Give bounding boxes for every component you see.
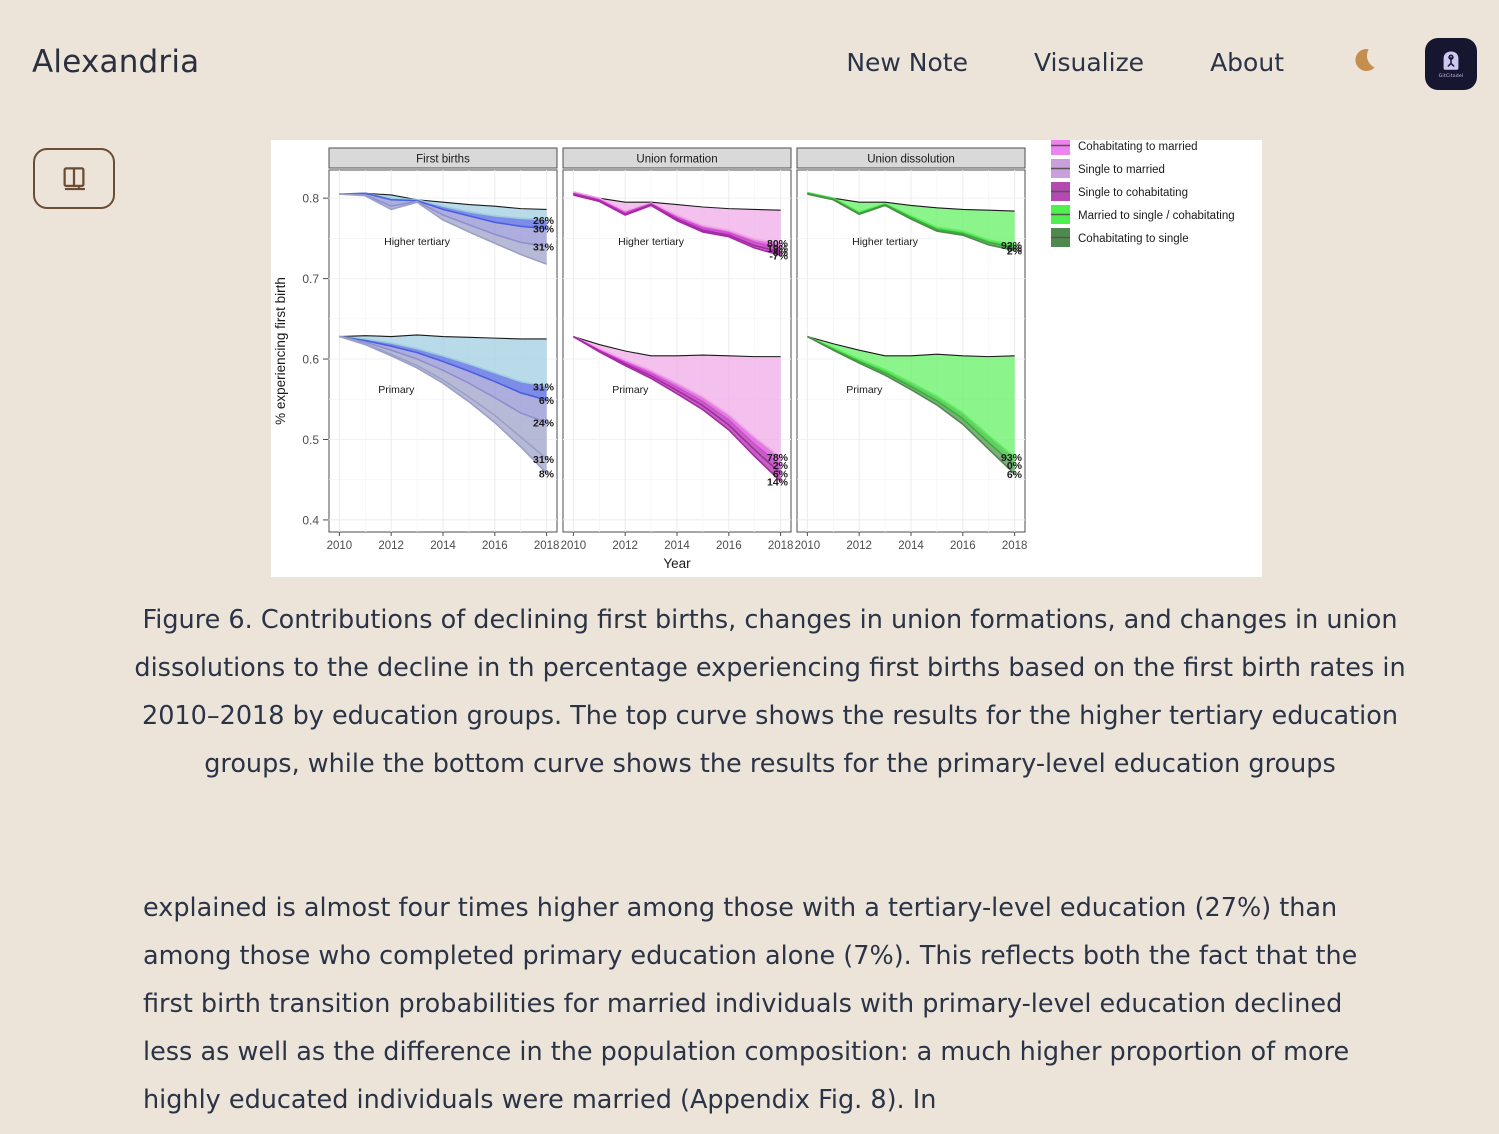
group-label: Primary [612, 384, 649, 396]
band-annotation: 30% [533, 224, 555, 236]
group-label: Higher tertiary [384, 236, 451, 248]
x-tick-label: 2016 [716, 540, 742, 552]
x-tick-label: 2018 [768, 540, 794, 552]
y-tick-label: 0.4 [302, 513, 319, 527]
x-tick-label: 2014 [898, 540, 924, 552]
logo-label: GitCitadel [1439, 74, 1464, 79]
body-paragraph: explained is almost four times higher am… [143, 884, 1391, 1124]
legend-swatch [1051, 140, 1070, 155]
band-annotation: 14% [767, 476, 789, 488]
panel-union-dissolution: Union dissolution20102012201420162018Hig… [795, 148, 1028, 552]
group-label: Higher tertiary [852, 236, 919, 248]
nav-item-new-note[interactable]: New Note [813, 48, 1001, 77]
band-annotation: 2% [1007, 245, 1023, 257]
facet-title: First births [416, 154, 470, 166]
band-annotation: 6% [1007, 469, 1023, 481]
panel-first-births: First births20102012201420162018Higher t… [327, 148, 560, 552]
band-annotation: 31% [533, 454, 555, 466]
panel-union-formation: Union formation20102012201420162018Highe… [561, 148, 794, 552]
nav-item-visualize[interactable]: Visualize [1001, 48, 1177, 77]
app-brand-title[interactable]: Alexandria [32, 44, 199, 80]
figure-caption: Figure 6. Contributions of declining fir… [110, 596, 1430, 788]
band-annotation: -7% [769, 250, 788, 262]
book-icon [59, 164, 89, 194]
band-annotation: 31% [533, 381, 555, 393]
legend-label: Cohabitating to married [1078, 141, 1198, 153]
facet-title: Union dissolution [867, 154, 955, 166]
figure-image-card[interactable]: % experiencing first birth0.40.50.60.70.… [271, 140, 1262, 577]
moon-icon[interactable] [1347, 42, 1387, 82]
x-tick-label: 2014 [664, 540, 690, 552]
band-annotation: 24% [533, 418, 555, 430]
x-tick-label: 2016 [950, 540, 976, 552]
legend-label: Married to single / cohabitating [1078, 210, 1235, 222]
facet-title: Union formation [636, 154, 717, 166]
group-label: Primary [846, 384, 883, 396]
x-tick-label: 2010 [561, 540, 587, 552]
legend-label: Single to married [1078, 164, 1165, 176]
group-label: Primary [378, 384, 415, 396]
x-tick-label: 2012 [612, 540, 638, 552]
x-tick-label: 2012 [846, 540, 872, 552]
y-tick-label: 0.8 [302, 192, 319, 206]
x-tick-label: 2018 [534, 540, 560, 552]
shield-icon [1439, 49, 1463, 73]
body-paragraph-next-partial: the calculations, we assume that only th… [143, 1122, 1391, 1134]
y-tick-label: 0.6 [302, 353, 319, 367]
gitcitadel-logo[interactable]: GitCitadel [1425, 38, 1477, 90]
band-annotation: 8% [539, 468, 555, 480]
band-annotation: 31% [533, 241, 555, 253]
main-navigation: New Note Visualize About [813, 42, 1387, 82]
x-tick-label: 2018 [1002, 540, 1028, 552]
y-axis-title: % experiencing first birth [273, 277, 288, 425]
legend-label: Cohabitating to single [1078, 233, 1189, 245]
x-tick-label: 2012 [378, 540, 404, 552]
nav-item-about[interactable]: About [1177, 48, 1317, 77]
y-tick-label: 0.7 [302, 272, 319, 286]
x-axis-title: Year [663, 556, 691, 571]
x-tick-label: 2010 [327, 540, 353, 552]
band-annotation: 6% [539, 395, 555, 407]
top-header: Alexandria New Note Visualize About GitC… [0, 0, 1499, 120]
figure-chart: % experiencing first birth0.40.50.60.70.… [271, 140, 1262, 577]
legend-label: Single to cohabitating [1078, 187, 1188, 199]
x-tick-label: 2010 [795, 540, 821, 552]
x-tick-label: 2014 [430, 540, 456, 552]
chart-legend: Cohabitating to marriedSingle to married… [1051, 140, 1235, 247]
group-label: Higher tertiary [618, 236, 685, 248]
sidebar-toggle-button[interactable] [33, 148, 115, 209]
x-tick-label: 2016 [482, 540, 508, 552]
y-tick-label: 0.5 [302, 433, 319, 447]
